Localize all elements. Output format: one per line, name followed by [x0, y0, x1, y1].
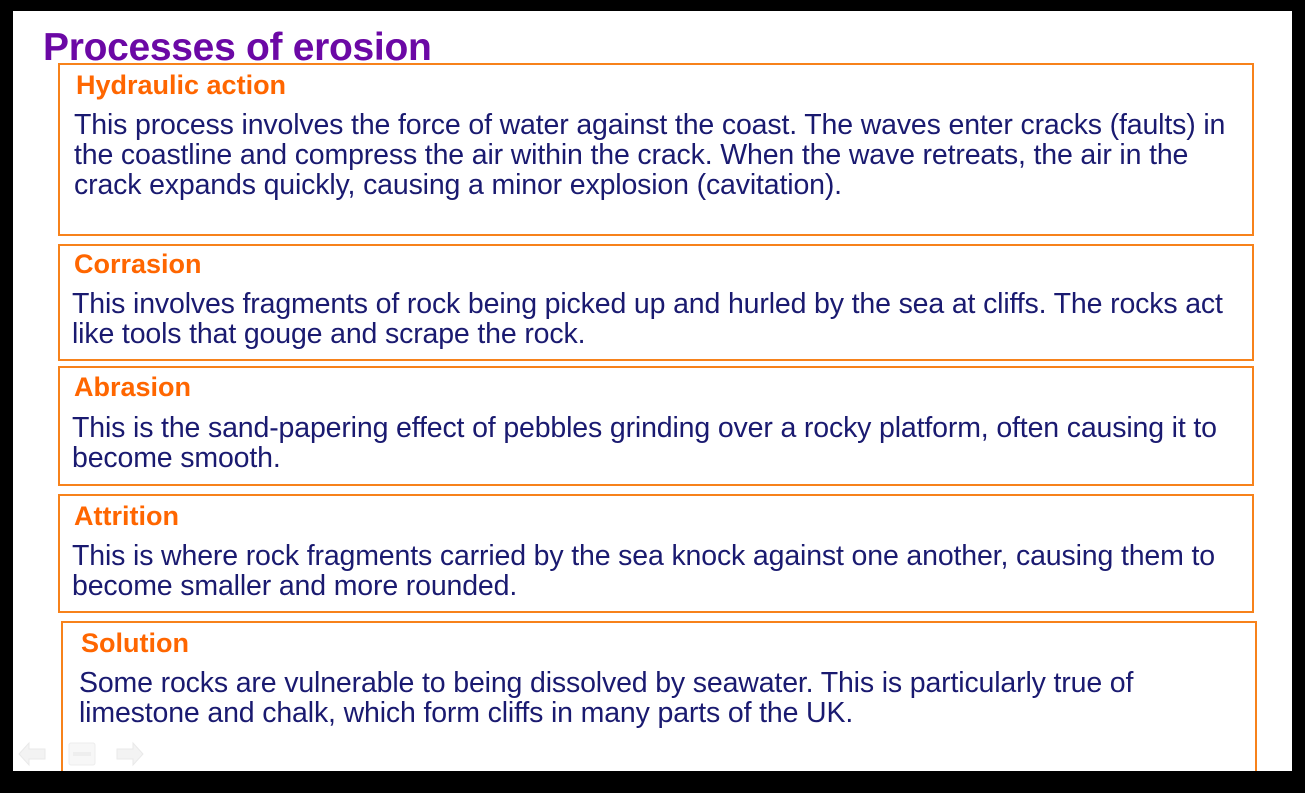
process-heading-abrasion: Abrasion: [74, 373, 191, 401]
slide-outer-frame: Processes of erosion Hydraulic action Th…: [0, 0, 1305, 793]
slideshow-navigation-controls[interactable]: [13, 739, 193, 771]
process-heading-attrition: Attrition: [74, 502, 179, 530]
arrow-left-icon[interactable]: [15, 739, 49, 771]
process-heading-hydraulic-action: Hydraulic action: [76, 71, 286, 99]
slide-canvas: Processes of erosion Hydraulic action Th…: [13, 11, 1292, 771]
process-body-abrasion: This is the sand-papering effect of pebb…: [72, 413, 1247, 473]
process-body-attrition: This is where rock fragments carried by …: [72, 541, 1247, 601]
process-box-abrasion[interactable]: Abrasion This is the sand-papering effec…: [58, 366, 1254, 486]
process-box-solution[interactable]: Solution Some rocks are vulnerable to be…: [61, 621, 1257, 771]
process-box-corrasion[interactable]: Corrasion This involves fragments of roc…: [58, 244, 1254, 361]
process-box-hydraulic-action[interactable]: Hydraulic action This process involves t…: [58, 63, 1254, 236]
process-heading-corrasion: Corrasion: [74, 250, 202, 278]
process-body-hydraulic-action: This process involves the force of water…: [74, 110, 1244, 201]
process-box-attrition[interactable]: Attrition This is where rock fragments c…: [58, 494, 1254, 613]
menu-icon[interactable]: [65, 739, 99, 771]
page-title: Processes of erosion: [43, 28, 432, 67]
arrow-right-icon[interactable]: [113, 739, 147, 771]
process-body-solution: Some rocks are vulnerable to being disso…: [79, 668, 1259, 728]
process-body-corrasion: This involves fragments of rock being pi…: [72, 289, 1247, 349]
process-heading-solution: Solution: [81, 629, 189, 657]
